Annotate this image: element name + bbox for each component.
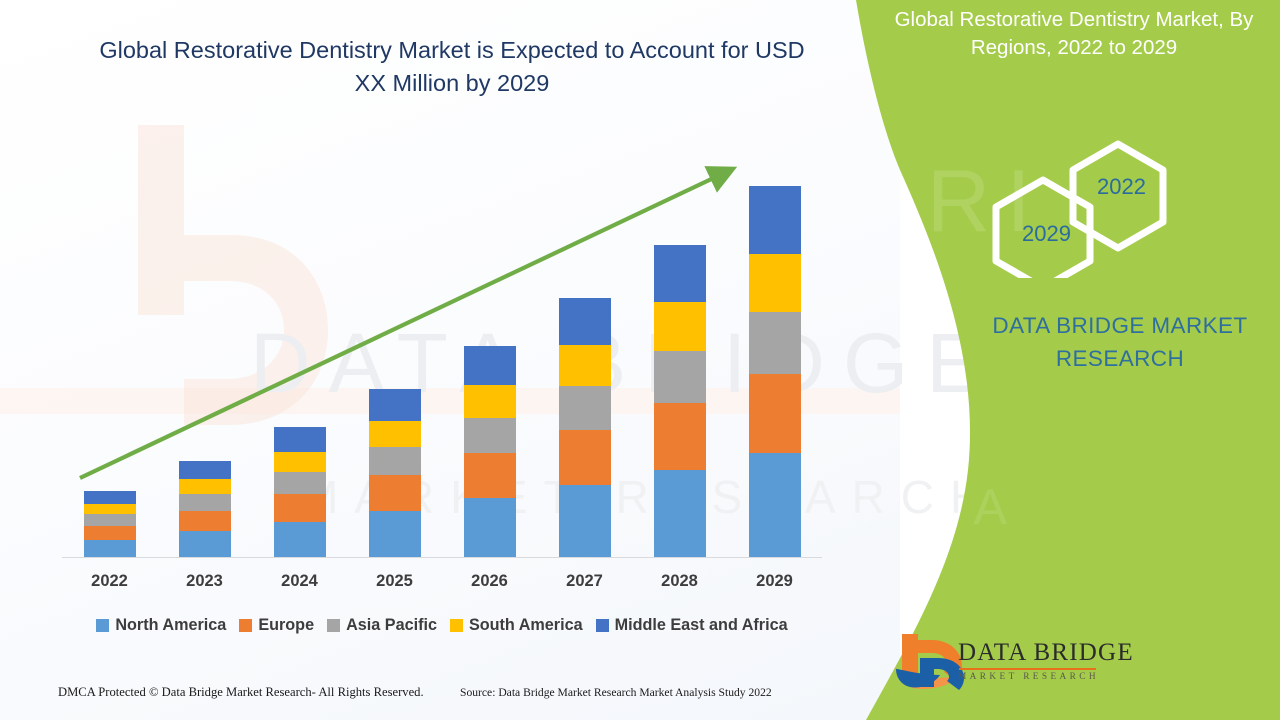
segment-north-america-2022 xyxy=(84,540,136,558)
segment-asia-pacific-2028 xyxy=(654,351,706,404)
segment-middle-east-and-africa-2029 xyxy=(749,186,801,254)
panel-title: Global Restorative Dentistry Market, By … xyxy=(878,6,1270,61)
segment-europe-2023 xyxy=(179,511,231,532)
segment-middle-east-and-africa-2023 xyxy=(179,461,231,479)
segment-south-america-2029 xyxy=(749,254,801,312)
segment-asia-pacific-2026 xyxy=(464,418,516,453)
legend-swatch-icon xyxy=(96,619,109,632)
bar-2029 xyxy=(749,186,801,558)
legend-label: Europe xyxy=(258,616,314,635)
segment-asia-pacific-2025 xyxy=(369,447,421,475)
segment-europe-2027 xyxy=(559,430,611,485)
logo-sub-text: MARKET RESEARCH xyxy=(958,672,1134,682)
bar-2027 xyxy=(559,298,611,558)
page-title: Global Restorative Dentistry Market is E… xyxy=(96,34,808,101)
segment-europe-2024 xyxy=(274,494,326,522)
segment-europe-2025 xyxy=(369,475,421,511)
segment-north-america-2025 xyxy=(369,511,421,558)
segment-europe-2026 xyxy=(464,453,516,498)
segment-north-america-2026 xyxy=(464,498,516,558)
logo-wordmark: DATA BRIDGE MARKET RESEARCH xyxy=(958,640,1134,682)
segment-north-america-2023 xyxy=(179,531,231,558)
brand-line-2: RESEARCH xyxy=(1056,346,1184,371)
bar-2023 xyxy=(179,461,231,558)
segment-europe-2029 xyxy=(749,374,801,453)
segment-south-america-2026 xyxy=(464,385,516,418)
segment-north-america-2029 xyxy=(749,453,801,558)
copyright-notice: DMCA Protected © Data Bridge Market Rese… xyxy=(58,685,424,700)
bar-2022 xyxy=(84,491,136,558)
hexagon-2022-label: 2022 xyxy=(1097,174,1146,200)
legend-item-south-america[interactable]: South America xyxy=(450,616,583,635)
segment-middle-east-and-africa-2026 xyxy=(464,346,516,385)
legend-swatch-icon xyxy=(327,619,340,632)
legend-swatch-icon xyxy=(596,619,609,632)
segment-europe-2028 xyxy=(654,403,706,470)
x-axis-labels: 20222023202420252026202720282029 xyxy=(62,572,822,591)
segment-asia-pacific-2023 xyxy=(179,494,231,510)
bar-2024 xyxy=(274,427,326,558)
x-label-2023: 2023 xyxy=(179,572,231,591)
bar-2025 xyxy=(369,389,421,558)
segment-europe-2022 xyxy=(84,526,136,540)
segment-middle-east-and-africa-2025 xyxy=(369,389,421,420)
segment-asia-pacific-2024 xyxy=(274,472,326,494)
bar-2026 xyxy=(464,346,516,558)
legend-label: Asia Pacific xyxy=(346,616,437,635)
chart-legend: North AmericaEuropeAsia PacificSouth Ame… xyxy=(62,616,822,635)
panel-watermark-bottom: REA xyxy=(860,478,1029,536)
segment-asia-pacific-2027 xyxy=(559,386,611,430)
x-label-2025: 2025 xyxy=(369,572,421,591)
x-label-2024: 2024 xyxy=(274,572,326,591)
segment-middle-east-and-africa-2028 xyxy=(654,245,706,302)
x-label-2029: 2029 xyxy=(749,572,801,591)
legend-swatch-icon xyxy=(239,619,252,632)
legend-label: North America xyxy=(115,616,226,635)
segment-middle-east-and-africa-2024 xyxy=(274,427,326,451)
segment-north-america-2028 xyxy=(654,470,706,558)
legend-label: South America xyxy=(469,616,583,635)
segment-south-america-2027 xyxy=(559,345,611,385)
x-label-2027: 2027 xyxy=(559,572,611,591)
source-note: Source: Data Bridge Market Research Mark… xyxy=(460,686,772,699)
brand-name: DATA BRIDGE MARKET RESEARCH xyxy=(960,310,1280,375)
legend-item-europe[interactable]: Europe xyxy=(239,616,314,635)
bar-2028 xyxy=(654,245,706,558)
logo-main-text: DATA BRIDGE xyxy=(958,640,1134,665)
segment-south-america-2025 xyxy=(369,421,421,447)
segment-south-america-2028 xyxy=(654,302,706,351)
infographic-slide: DATA BRIDGE MARKET RESEARCH Global Resto… xyxy=(0,0,1280,720)
brand-line-1: DATA BRIDGE MARKET xyxy=(992,313,1247,338)
x-label-2028: 2028 xyxy=(654,572,706,591)
legend-label: Middle East and Africa xyxy=(615,616,788,635)
legend-item-middle-east-and-africa[interactable]: Middle East and Africa xyxy=(596,616,788,635)
hexagon-pair-graphic xyxy=(985,138,1185,278)
segment-middle-east-and-africa-2027 xyxy=(559,298,611,346)
bar-chart-plot xyxy=(62,140,822,558)
hexagon-2029-label: 2029 xyxy=(1022,221,1071,247)
segment-south-america-2022 xyxy=(84,504,136,515)
segment-south-america-2023 xyxy=(179,479,231,494)
x-label-2026: 2026 xyxy=(464,572,516,591)
segment-north-america-2027 xyxy=(559,485,611,558)
segment-asia-pacific-2022 xyxy=(84,514,136,525)
legend-item-asia-pacific[interactable]: Asia Pacific xyxy=(327,616,437,635)
x-label-2022: 2022 xyxy=(84,572,136,591)
segment-south-america-2024 xyxy=(274,452,326,473)
segment-asia-pacific-2029 xyxy=(749,312,801,374)
logo-divider xyxy=(959,668,1096,670)
legend-item-north-america[interactable]: North America xyxy=(96,616,226,635)
segment-middle-east-and-africa-2022 xyxy=(84,491,136,504)
legend-swatch-icon xyxy=(450,619,463,632)
x-axis-line xyxy=(62,557,822,558)
segment-north-america-2024 xyxy=(274,522,326,558)
